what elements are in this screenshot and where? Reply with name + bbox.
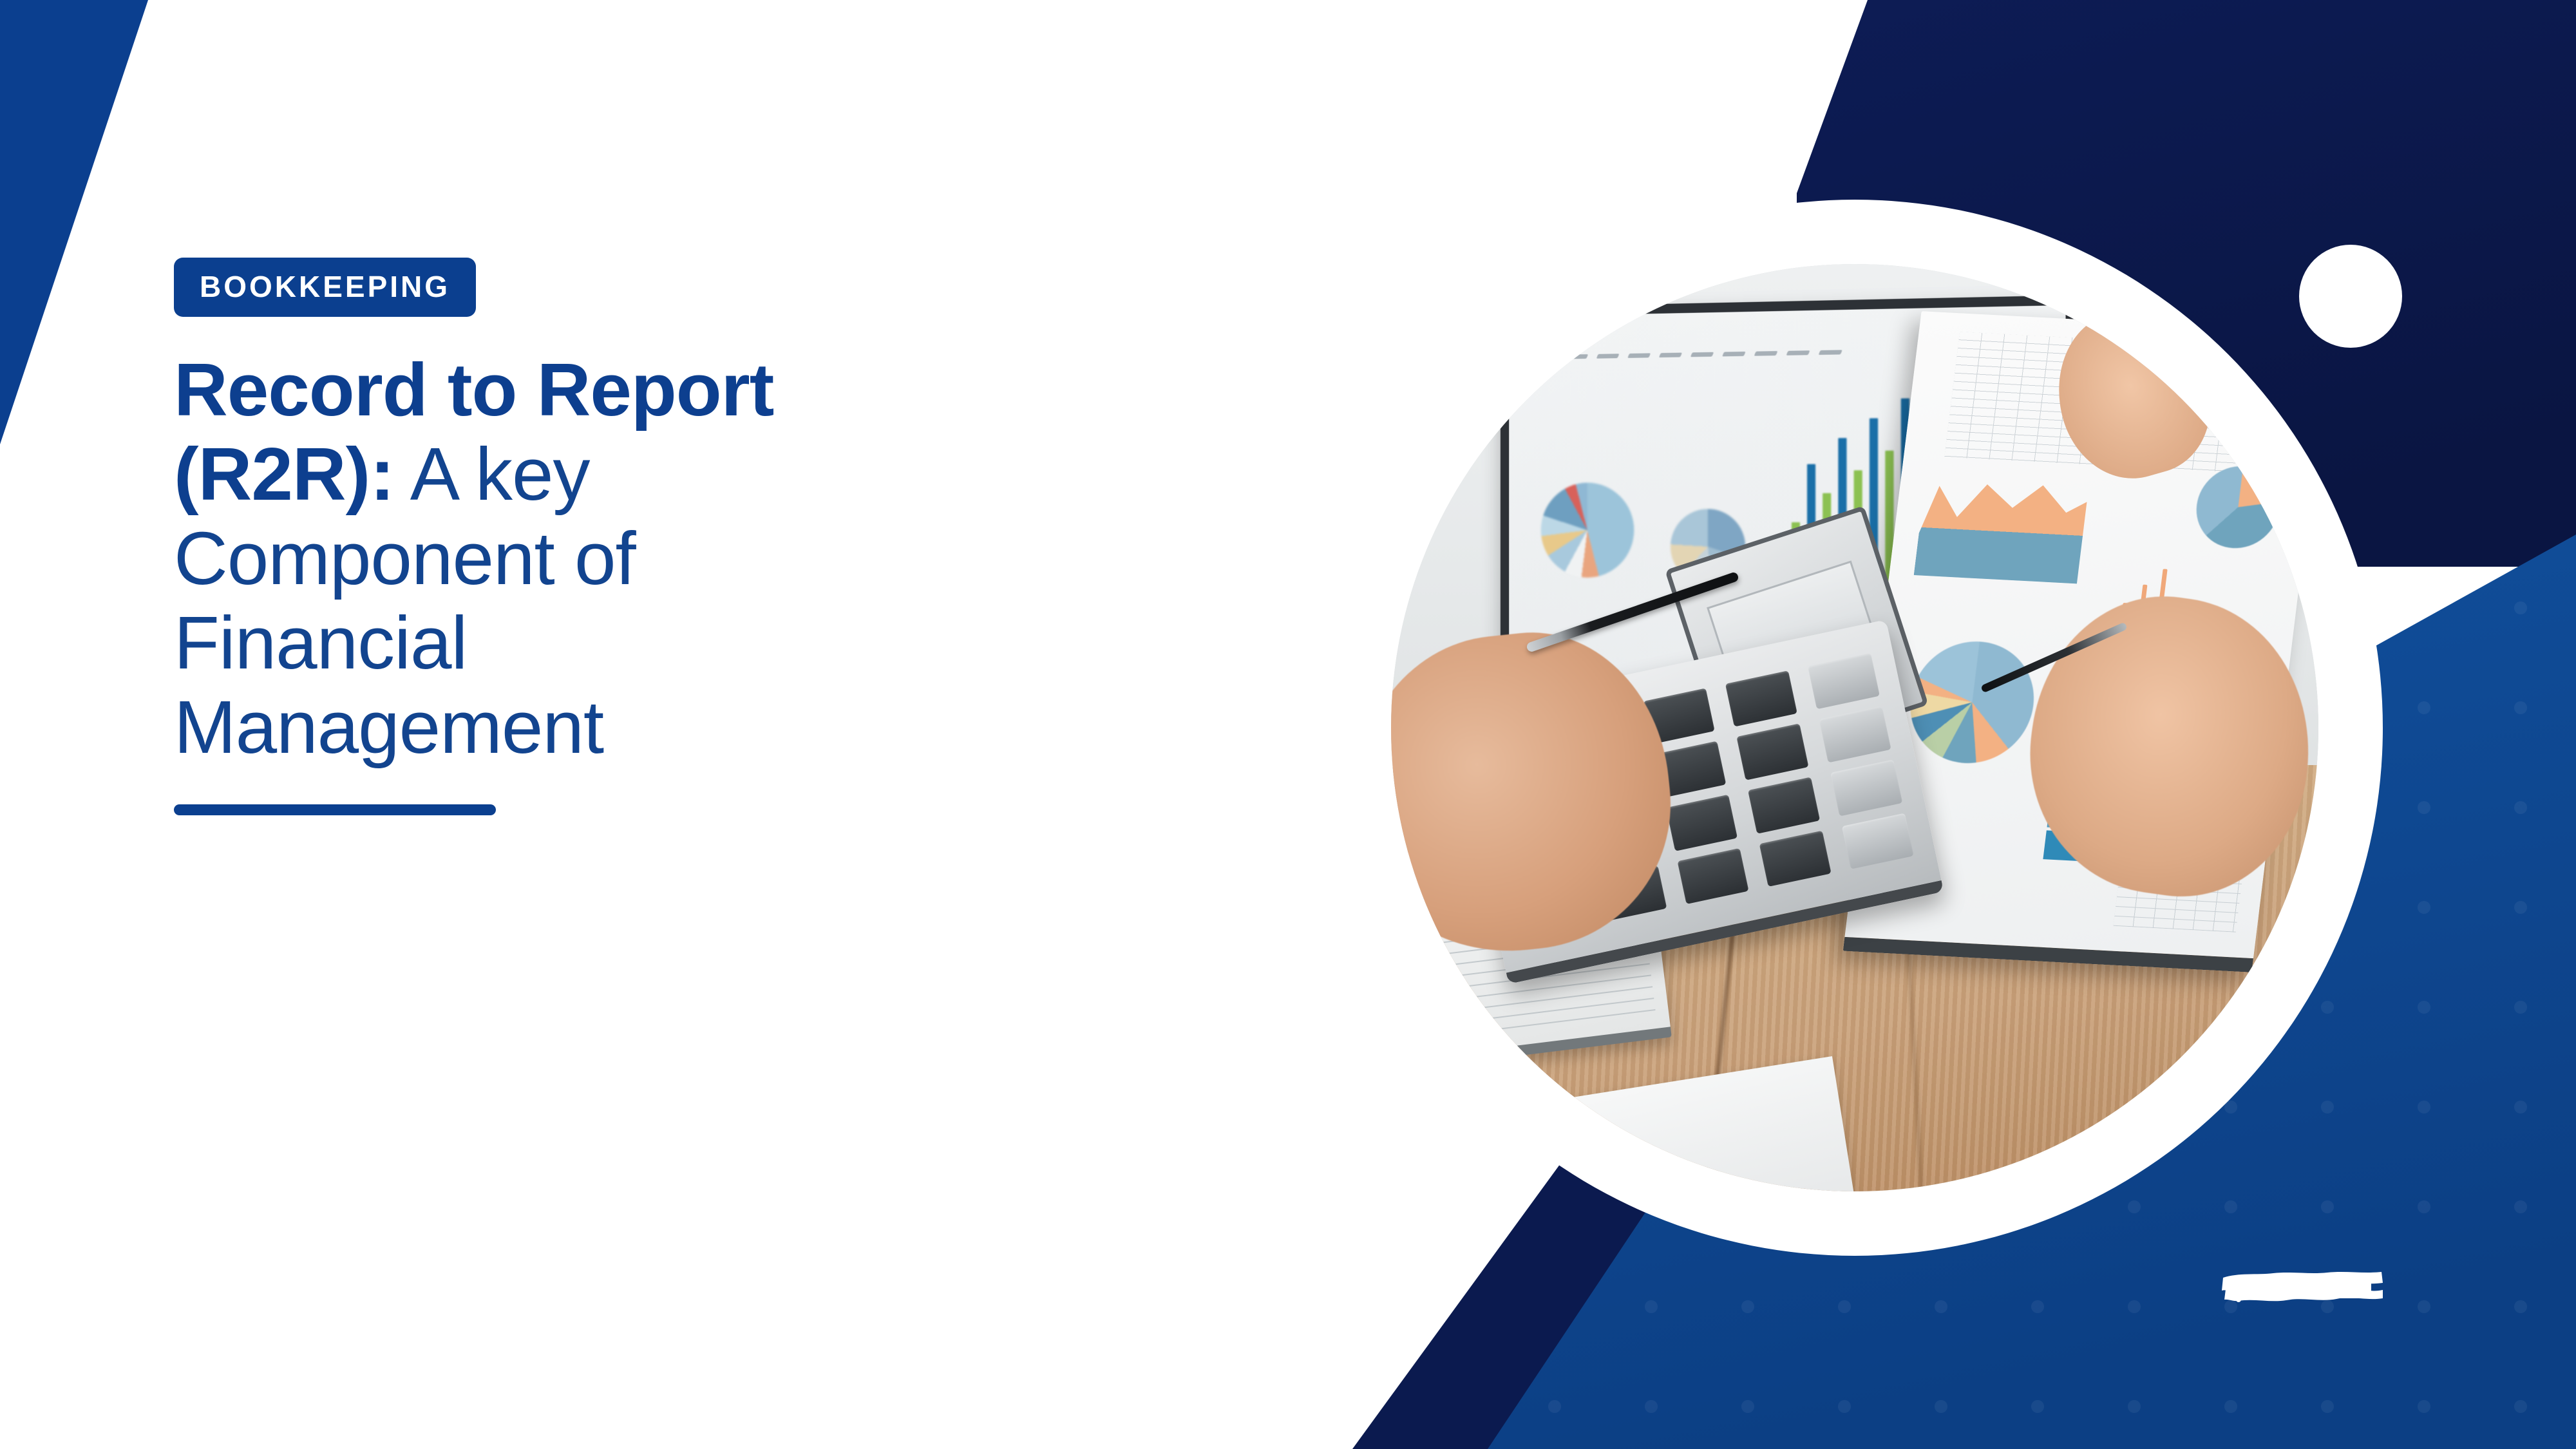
headline-rest-2: A key: [394, 432, 590, 516]
title-underline-rule: [174, 804, 496, 815]
white-brush-stroke: [2219, 1264, 2387, 1310]
poster-canvas: BOOKKEEPING Record to Report (R2R): A ke…: [0, 0, 2576, 1449]
headline-strong-1: Record to Report: [174, 348, 773, 431]
text-column: BOOKKEEPING Record to Report (R2R): A ke…: [174, 258, 1153, 815]
headline-line-2: (R2R): A key: [174, 432, 1153, 516]
screen-dash-row: [1536, 350, 1842, 359]
report-pie-chart-small: [2192, 465, 2285, 551]
page-title: Record to Report (R2R): A key Component …: [174, 348, 1153, 770]
headline-line-4: Financial: [174, 601, 1153, 685]
report-area-chart: [1914, 475, 2090, 584]
headline-strong-2: (R2R):: [174, 432, 394, 516]
hero-photo: [1391, 264, 2318, 1191]
screen-pie-chart-a: [1541, 482, 1634, 578]
top-left-triangle: [0, 0, 148, 444]
category-badge[interactable]: BOOKKEEPING: [174, 258, 476, 317]
headline-line-3: Component of: [174, 516, 1153, 601]
headline-line-1: Record to Report: [174, 348, 1153, 432]
headline-line-5: Management: [174, 685, 1153, 770]
